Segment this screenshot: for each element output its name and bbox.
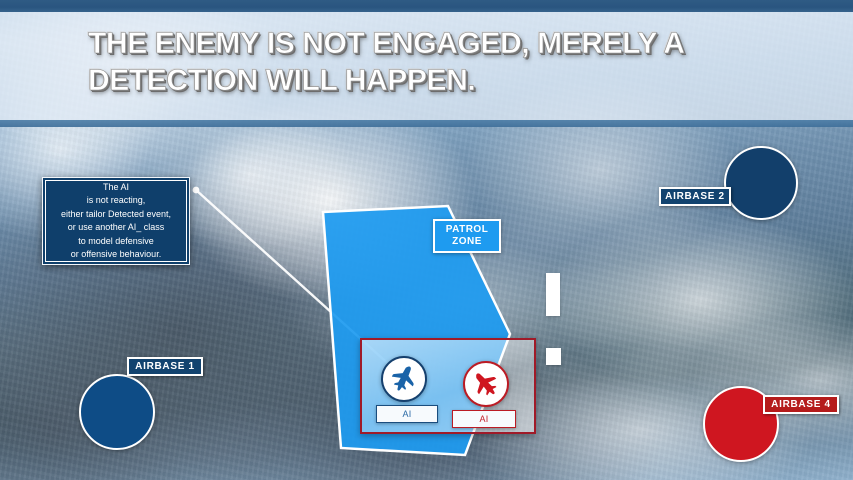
blank-marker-tall (546, 273, 560, 316)
patrol-zone-label: PATROL ZONE (433, 219, 501, 253)
patrol-zone-label-line1: PATROL (446, 224, 489, 237)
airbase-1-label: AIRBASE 1 (127, 357, 203, 376)
airbase-1-marker[interactable] (79, 374, 155, 450)
callout-line-4: or use another AI_ class (68, 221, 165, 235)
fighter-jet-icon (471, 369, 501, 399)
friendly-unit-ai-tag[interactable]: AI (376, 405, 438, 423)
patrol-zone-label-line2: ZONE (452, 236, 482, 249)
callout-line-5: to model defensive (78, 235, 154, 249)
enemy-unit-ai-tag[interactable]: AI (452, 410, 516, 428)
callout-line-2: is not reacting, (87, 194, 146, 208)
fighter-jet-icon (389, 364, 419, 394)
friendly-unit-marker[interactable] (381, 356, 427, 402)
slide-canvas: THE ENEMY IS NOT ENGAGED, MERELY A DETEC… (0, 0, 853, 480)
callout-line-3: either tailor Detected event, (61, 208, 171, 222)
airbase-2-marker[interactable] (724, 146, 798, 220)
airbase-4-label: AIRBASE 4 (763, 395, 839, 414)
page-title: THE ENEMY IS NOT ENGAGED, MERELY A DETEC… (88, 26, 808, 99)
enemy-unit-marker[interactable] (463, 361, 509, 407)
callout-ai-behaviour: The AI is not reacting, either tailor De… (42, 177, 190, 265)
callout-line-6: or offensive behaviour. (71, 248, 161, 262)
header-bottom-rule (0, 120, 853, 127)
header-top-rule (0, 0, 853, 12)
airbase-2-label: AIRBASE 2 (659, 187, 731, 206)
blank-marker-small (546, 348, 561, 365)
callout-line-1: The AI (103, 181, 129, 195)
